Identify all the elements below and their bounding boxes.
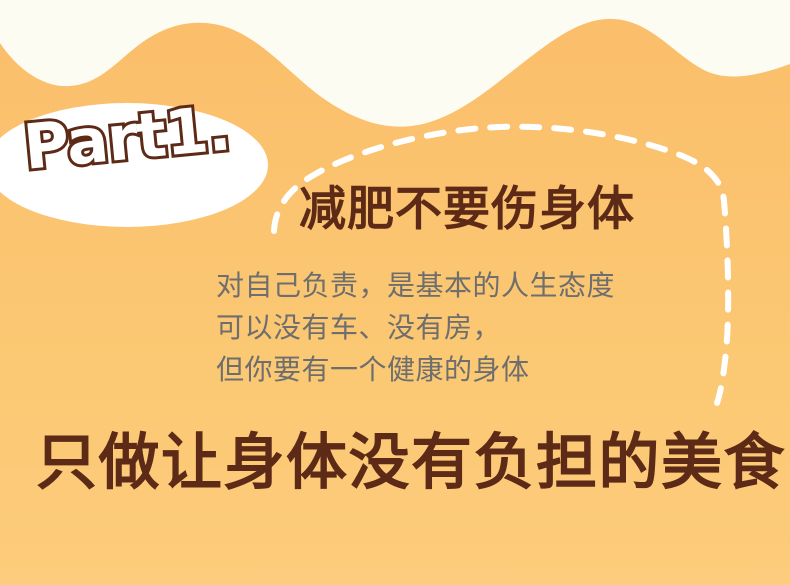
subtitle-line-3: 但你要有一个健康的身体 xyxy=(216,349,615,391)
subtitle-line-2: 可以没有车、没有房， xyxy=(216,307,615,349)
poster-canvas: Part1. 减肥不要伤身体 对自己负责，是基本的人生态度 可以没有车、没有房，… xyxy=(0,0,790,585)
subtitle-block: 对自己负责，是基本的人生态度 可以没有车、没有房， 但你要有一个健康的身体 xyxy=(216,265,615,391)
headline-main: 减肥不要伤身体 xyxy=(299,184,635,237)
headline-bottom: 只做让身体没有负担的美食 xyxy=(36,429,786,496)
subtitle-line-1: 对自己负责，是基本的人生态度 xyxy=(216,265,615,307)
part-badge-label: Part1. xyxy=(21,97,233,179)
